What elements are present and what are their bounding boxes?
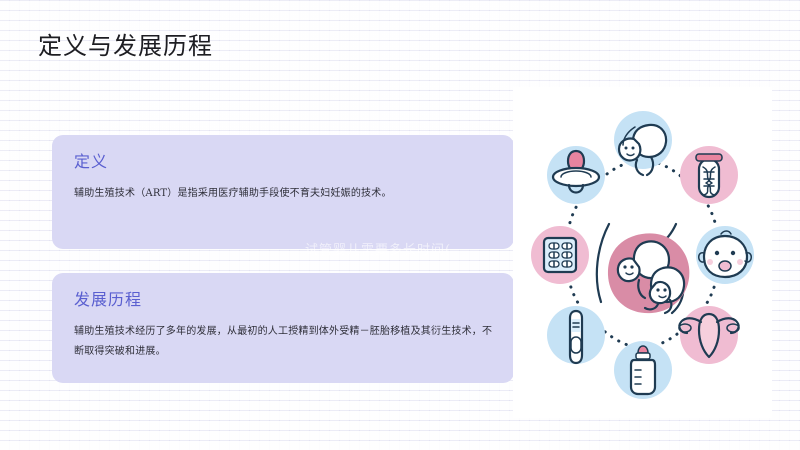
card-history: 发展历程 辅助生殖技术经历了多年的发展，从最初的人工授精到体外受精－胚胎移植及其…: [52, 273, 514, 383]
illustration-panel: .ol{fill:none;stroke:#1f3b52;stroke-widt…: [513, 87, 772, 418]
page-title: 定义与发展历程: [38, 31, 213, 61]
card-definition: 定义 辅助生殖技术（ART）是指采用医疗辅助手段使不育夫妇妊娠的技术。: [52, 135, 514, 249]
slide-canvas: 定义与发展历程 定义 辅助生殖技术（ART）是指采用医疗辅助手段使不育夫妇妊娠的…: [0, 0, 800, 450]
fertility-illustration: .ol{fill:none;stroke:#1f3b52;stroke-widt…: [513, 87, 772, 418]
pacifier-icon: [547, 146, 605, 204]
dna-test-tube-icon: [680, 146, 738, 204]
baby-face-icon: [696, 226, 754, 284]
baby-bottle-icon: [614, 341, 672, 399]
card-history-body: 辅助生殖技术经历了多年的发展，从最初的人工授精到体外受精－胚胎移植及其衍生技术，…: [74, 322, 494, 362]
card-definition-body: 辅助生殖技术（ART）是指采用医疗辅助手段使不育夫妇妊娠的技术。: [74, 184, 494, 204]
uterus-icon: [679, 306, 739, 364]
pill-blister-icon: [531, 226, 589, 284]
card-history-heading: 发展历程: [74, 289, 494, 311]
pregnancy-test-icon: [547, 306, 605, 364]
card-definition-heading: 定义: [74, 151, 494, 173]
twins-in-womb-icon: [608, 233, 689, 313]
